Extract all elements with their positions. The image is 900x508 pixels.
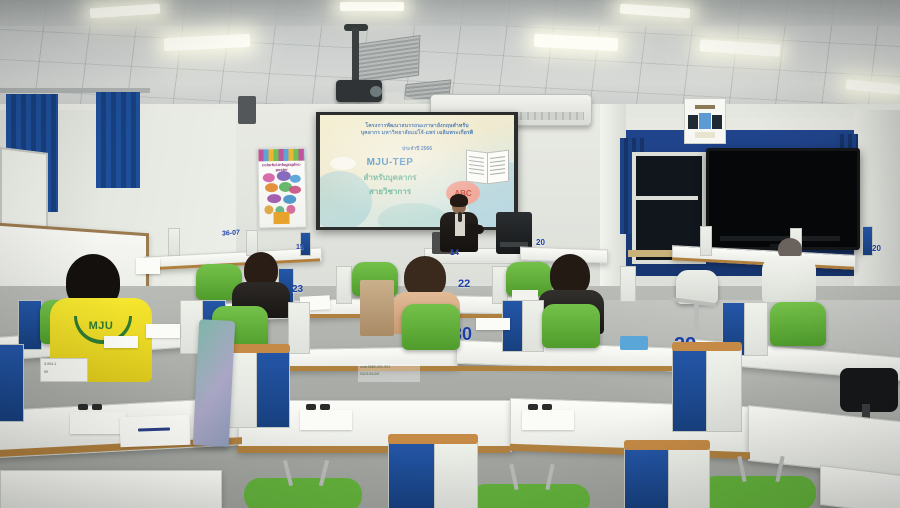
paper-sheet <box>476 318 510 330</box>
structural-pillar <box>854 110 900 300</box>
poster-caption <box>695 132 715 138</box>
projector-pole <box>352 28 359 86</box>
window-curtain <box>96 92 140 188</box>
desk-number: 22 <box>458 278 470 290</box>
shirt-logo-text: MJU <box>78 320 124 332</box>
poster-bubble <box>277 171 291 181</box>
desk-number: 20 <box>872 244 881 253</box>
desk-edge <box>236 366 692 371</box>
paper-sheet <box>300 410 352 430</box>
desk-partition <box>18 300 42 350</box>
chair[interactable] <box>470 484 590 508</box>
desk-partition <box>0 344 24 422</box>
chair[interactable] <box>402 304 460 350</box>
poster-footer-block <box>273 212 289 224</box>
desk-partition <box>256 350 290 428</box>
desk-number: 15 <box>296 244 304 251</box>
desk-partition <box>168 228 180 256</box>
desk-partition <box>522 300 544 352</box>
desk-partition <box>620 266 636 302</box>
poster-bubble <box>283 195 296 204</box>
wall-speaker-icon <box>238 96 256 124</box>
marker-pen <box>320 404 330 410</box>
screen-glare <box>320 115 514 227</box>
asset-tag-sub: 59 <box>44 370 48 374</box>
poster-banner <box>695 105 715 109</box>
presenter-hair <box>450 194 468 207</box>
wall-poster-right <box>684 98 726 144</box>
partition-cap <box>624 440 710 450</box>
tote-bag <box>193 319 236 447</box>
desk-partition <box>668 446 710 508</box>
tv-bezel <box>720 236 840 241</box>
desk-partition <box>744 302 768 356</box>
chair[interactable] <box>244 478 362 508</box>
desk-number: 36-07 <box>222 229 240 237</box>
poster-photo <box>712 115 722 129</box>
marker-pen <box>78 404 88 410</box>
asset-tag-code: บพศ.5680-001-001 <box>360 365 390 370</box>
desk-item <box>620 336 648 350</box>
paper-sheet <box>522 410 574 430</box>
poster-bubble <box>265 183 278 192</box>
paper-bag <box>360 280 394 336</box>
poster-bubble <box>264 205 273 214</box>
chair[interactable] <box>770 302 826 346</box>
asset-tag: 3-004-1 59 <box>40 358 88 382</box>
desk-partition <box>388 440 436 508</box>
window-mullion <box>632 196 698 200</box>
ceiling-light <box>340 2 404 11</box>
paper-sheet <box>104 336 138 348</box>
chair[interactable] <box>542 304 600 348</box>
desk-partition <box>706 348 742 432</box>
poster-photo <box>688 115 698 129</box>
desk-partition <box>336 266 352 304</box>
wall-poster-left: colorful-infographic-poster <box>257 148 306 229</box>
poster-bubble <box>263 173 275 182</box>
chair[interactable] <box>700 476 816 508</box>
desk-partition <box>700 226 712 256</box>
desk-partition <box>288 302 310 354</box>
marker-pen <box>528 404 538 410</box>
poster-graphic <box>699 113 711 129</box>
asset-tag: บพศ.5680-001-001 0413-04-0/0 <box>358 364 420 382</box>
attendee-body <box>762 256 816 302</box>
marker-pen <box>92 404 102 410</box>
poster-header-stripe <box>258 149 304 162</box>
desk-number: 20 <box>536 238 545 247</box>
paper-sheet <box>70 412 126 434</box>
poster-bubble <box>267 194 281 203</box>
desk-row-bottom <box>0 470 222 508</box>
desk-partition <box>434 440 478 508</box>
desk-number: 23 <box>292 284 303 295</box>
tv-screen[interactable] <box>706 148 860 250</box>
asset-tag-code: 3-004-1 <box>44 362 56 366</box>
paper-sheet <box>146 324 180 338</box>
desk-number: 14 <box>450 248 459 257</box>
microphone-icon <box>458 212 462 222</box>
desk-partition <box>672 348 708 432</box>
partition-cap <box>672 342 742 351</box>
poster-bubble <box>289 186 301 194</box>
marker-pen <box>542 404 552 410</box>
marker-pen <box>306 404 316 410</box>
desk-partition <box>624 446 670 508</box>
partition-cap <box>388 434 478 444</box>
classroom-photo: colorful-infographic-poster โครงการพัฒนา… <box>0 0 900 508</box>
asset-tag-sub: 0413-04-0/0 <box>360 372 379 376</box>
document-sheet <box>119 415 190 447</box>
projection-screen: โครงการพัฒนาสมรรถนะภาษาอังกฤษสำหรับ บุคล… <box>320 115 514 227</box>
projector-lens-icon <box>370 86 382 97</box>
chair-leg <box>694 302 699 330</box>
paper-sheet <box>136 258 160 274</box>
poster-bubble <box>290 175 301 183</box>
